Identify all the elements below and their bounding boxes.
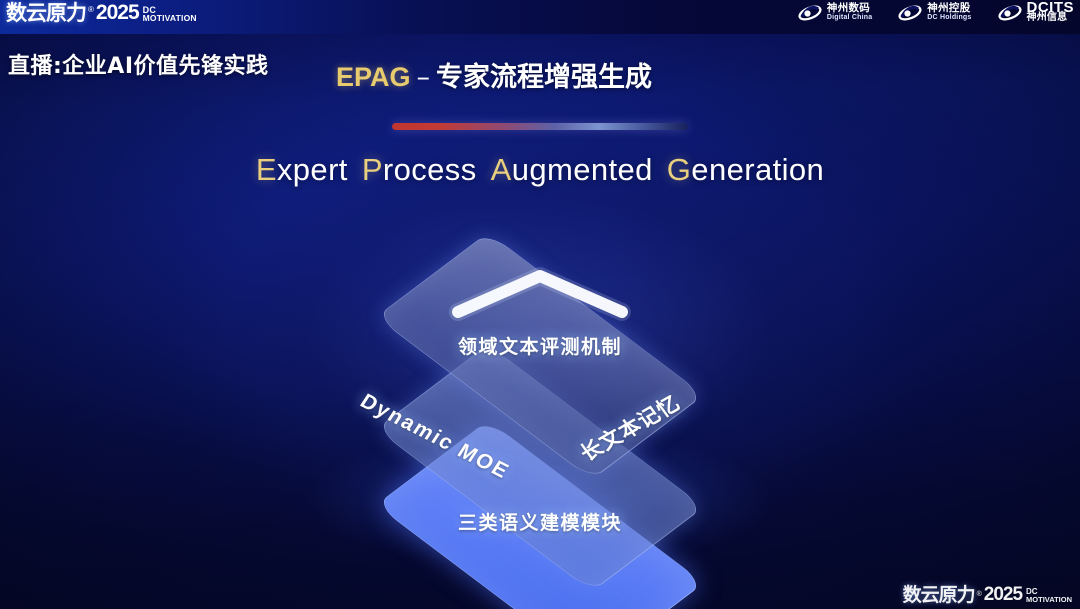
partner-cn-label: 神州数码 bbox=[827, 3, 872, 13]
swirl-logo-icon bbox=[798, 2, 822, 24]
subtitle-rest: eneration bbox=[691, 152, 824, 187]
subtitle-rest: rocess bbox=[383, 152, 477, 187]
partner-logo-dc-holdings: 神州控股 DC Holdings bbox=[898, 2, 971, 24]
page-title: EPAG–专家流程增强生成 bbox=[336, 55, 652, 94]
title-acronym: EPAG bbox=[336, 62, 411, 92]
subtitle-rest: xpert bbox=[277, 152, 348, 187]
partner-logo-digital-china: 神州数码 Digital China bbox=[798, 2, 872, 24]
subtitle-word-expert: Expert bbox=[256, 152, 348, 187]
english-subtitle: ExpertProcessAugmentedGeneration bbox=[0, 152, 1080, 188]
brand-logo-registered: ® bbox=[88, 4, 94, 16]
live-broadcast-title: 直播:企业AI价值先锋实践 bbox=[8, 48, 269, 80]
brand-logo-year: 2025 bbox=[96, 2, 139, 24]
partner-text-dcits: DCITS 神州信息 bbox=[1027, 3, 1075, 23]
brand-logo-dc-line2: MOTIVATION bbox=[143, 14, 197, 22]
swirl-logo-icon bbox=[898, 2, 922, 24]
brand-logo-cn: 数云原力 bbox=[6, 2, 86, 24]
swirl-logo-icon bbox=[998, 2, 1022, 24]
gradient-divider bbox=[392, 123, 688, 130]
watermark-dc-line2: MOTIVATION bbox=[1026, 596, 1072, 604]
partner-en-label: Digital China bbox=[827, 13, 872, 23]
partner-en-label: DC Holdings bbox=[927, 13, 971, 23]
layer-bottom-label: 三类语义建模模块 bbox=[280, 508, 800, 535]
title-chinese: 专家流程增强生成 bbox=[436, 62, 652, 93]
partner-cn-label: 神州控股 bbox=[927, 3, 971, 13]
subtitle-word-process: Process bbox=[362, 152, 477, 187]
partner-logos: 神州数码 Digital China 神州控股 DC Holdings bbox=[798, 2, 1074, 24]
watermark-registered: ® bbox=[977, 591, 982, 598]
brand-logo: 数云原力 ® 2025 DC MOTIVATION bbox=[6, 2, 197, 24]
slide-canvas: 数云原力 ® 2025 DC MOTIVATION 神州数码 Digital C… bbox=[0, 0, 1080, 609]
partner-cn-label: 神州信息 bbox=[1027, 13, 1075, 23]
partner-text-digital-china: 神州数码 Digital China bbox=[827, 3, 872, 23]
subtitle-word-generation: Generation bbox=[667, 152, 824, 187]
brand-logo-dc: DC MOTIVATION bbox=[143, 6, 197, 22]
subtitle-word-augmented: Augmented bbox=[491, 152, 653, 187]
partner-text-dc-holdings: 神州控股 DC Holdings bbox=[927, 3, 971, 23]
subtitle-cap: G bbox=[667, 152, 692, 187]
subtitle-rest: ugmented bbox=[512, 152, 653, 187]
layer-stack-diagram: 领域文本评测机制 Dynamic MOE 长文本记忆 三类语义建模模块 bbox=[280, 222, 800, 572]
subtitle-cap: A bbox=[491, 152, 512, 187]
subtitle-cap: E bbox=[256, 152, 277, 187]
partner-logo-dcits: DCITS 神州信息 bbox=[998, 2, 1075, 24]
chevron-up-icon bbox=[448, 266, 632, 322]
watermark-cn: 数云原力 bbox=[903, 585, 975, 605]
subtitle-cap: P bbox=[362, 152, 383, 187]
layer-top-label: 领域文本评测机制 bbox=[280, 332, 800, 359]
watermark-dc: DC MOTIVATION bbox=[1026, 588, 1072, 603]
title-dash: – bbox=[417, 62, 431, 93]
watermark-logo: 数云原力 ® 2025 DC MOTIVATION bbox=[903, 585, 1072, 605]
watermark-year: 2025 bbox=[984, 585, 1022, 605]
